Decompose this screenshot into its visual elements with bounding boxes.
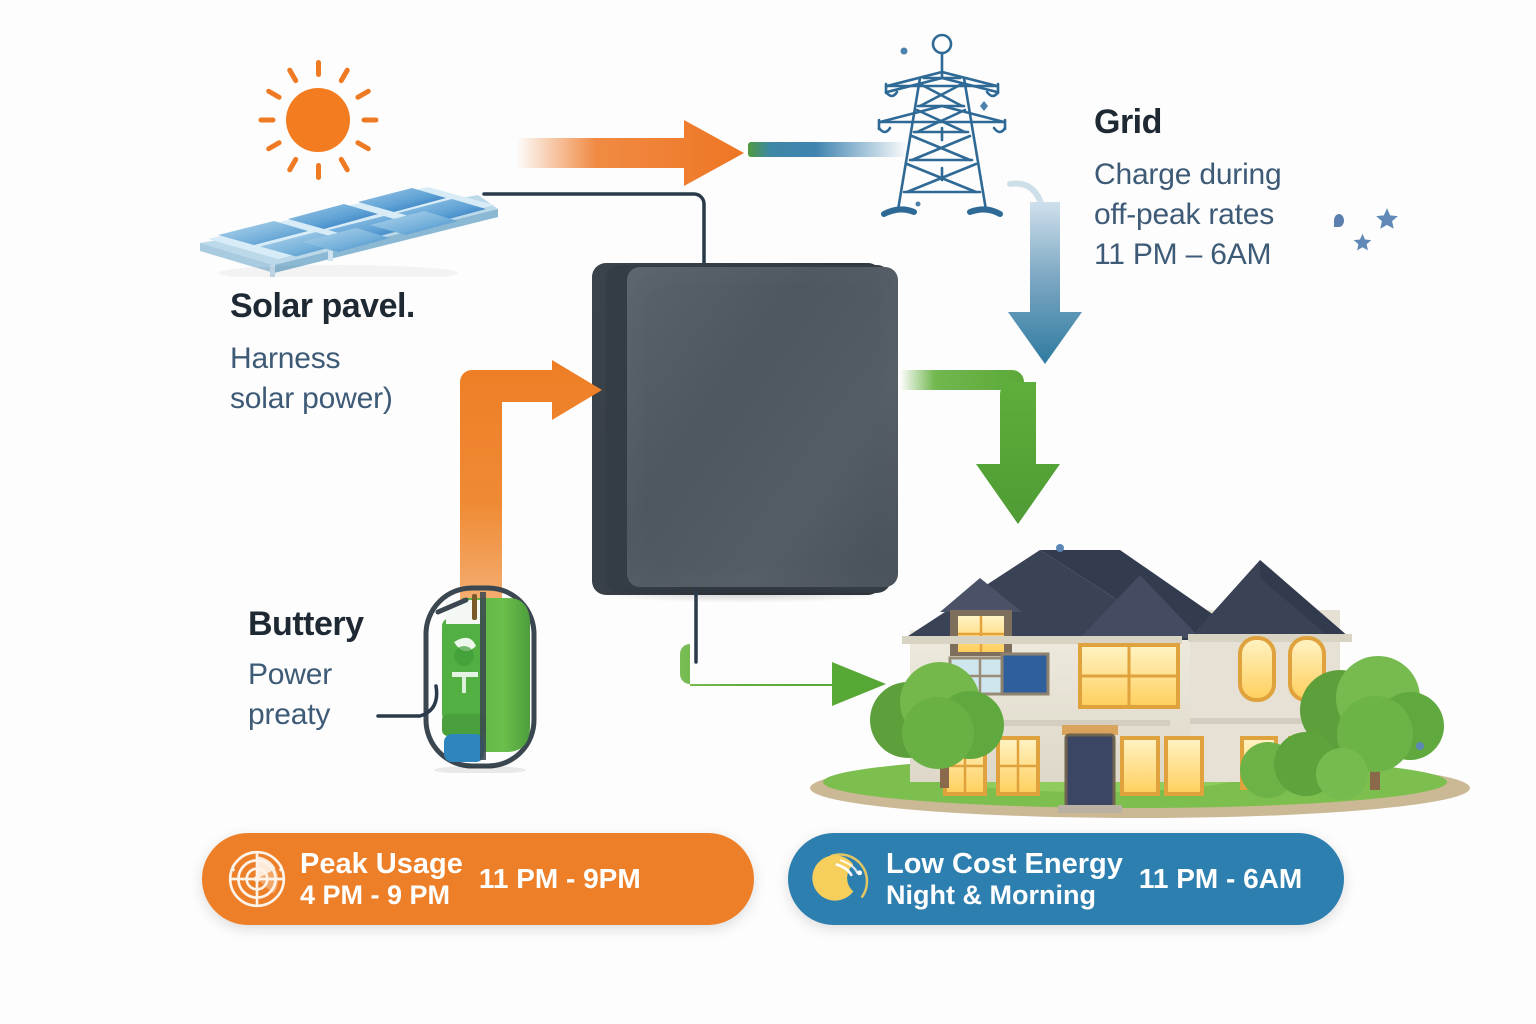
solar-label-block: Solar pavel. Harness solar power) <box>230 288 415 419</box>
battery-label-block: Buttery Power preaty <box>248 606 364 735</box>
sun-disc <box>286 88 350 152</box>
pill-peak-text: Peak Usage 4 PM - 9 PM <box>300 848 463 911</box>
arrow-grid-to-house <box>1000 176 1108 370</box>
transmission-tower-icon <box>862 28 1022 243</box>
grid-title: Grid <box>1094 104 1282 141</box>
solar-subtitle: Harness solar power) <box>230 339 415 418</box>
grid-subtitle: Charge during off-peak rates 11 PM – 6AM <box>1094 155 1282 274</box>
pill-low-cost-energy[interactable]: Low Cost Energy Night & Morning 11 PM - … <box>788 833 1344 925</box>
radar-clock-icon <box>224 846 290 912</box>
battery-icon <box>420 578 540 773</box>
pill-lowcost-subtitle: Night & Morning <box>886 880 1123 910</box>
star-icon <box>1374 206 1400 232</box>
pill-peak-usage[interactable]: Peak Usage 4 PM - 9 PM 11 PM - 9PM <box>202 833 754 925</box>
battery-title: Buttery <box>248 606 364 643</box>
house-icon <box>790 520 1480 820</box>
pill-peak-subtitle: 4 PM - 9 PM <box>300 880 463 910</box>
arrow-unit-to-house-top <box>900 356 1090 536</box>
pill-peak-title: Peak Usage <box>300 848 463 880</box>
star-icon <box>1352 232 1373 253</box>
pill-peak-time: 11 PM - 9PM <box>479 863 641 895</box>
pill-lowcost-time: 11 PM - 6AM <box>1139 863 1302 895</box>
solar-panel-icon <box>178 147 508 277</box>
pill-lowcost-text: Low Cost Energy Night & Morning <box>886 848 1123 911</box>
solar-panel-group <box>168 52 528 282</box>
battery-subtitle: Power preaty <box>248 655 364 734</box>
infographic-canvas: Solar pavel. Harness solar power) <box>0 0 1536 1024</box>
moon-icon <box>810 846 876 912</box>
solar-title: Solar pavel. <box>230 288 415 325</box>
dot-decoration <box>1334 214 1344 227</box>
pill-lowcost-title: Low Cost Energy <box>886 848 1123 880</box>
battery-label-connector <box>374 682 442 738</box>
arrow-solar-to-grid <box>516 116 746 190</box>
grid-label-block: Grid Charge during off-peak rates 11 PM … <box>1094 104 1282 274</box>
